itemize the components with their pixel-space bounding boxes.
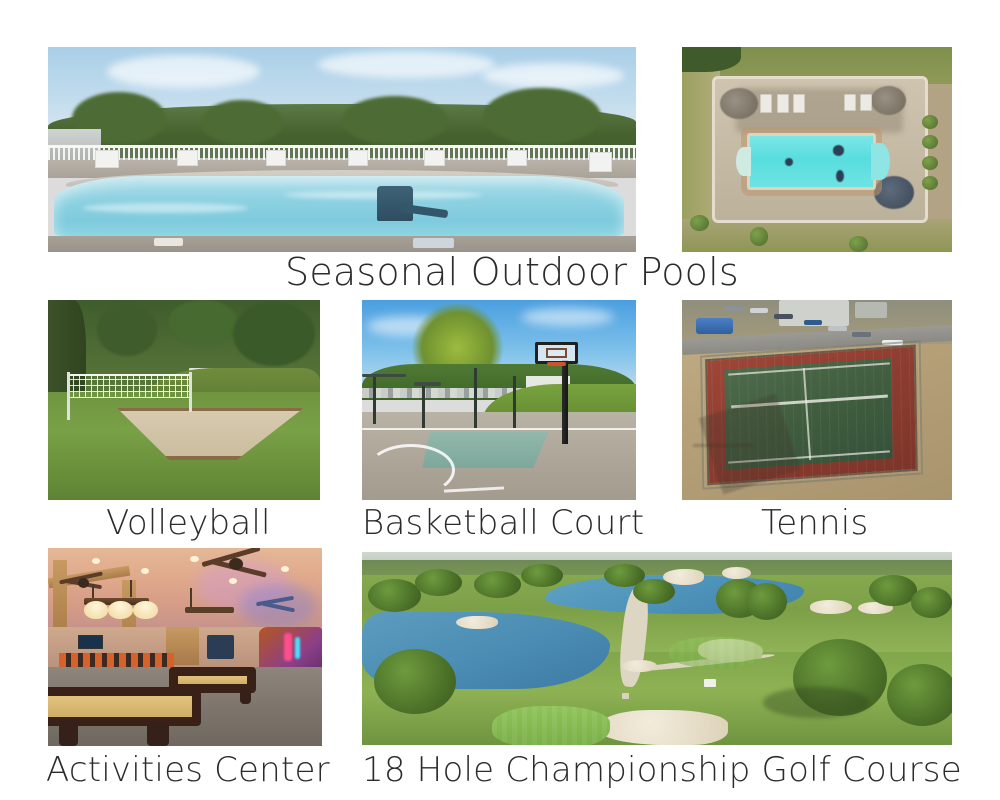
pool-table-leg xyxy=(59,720,78,746)
swimmer xyxy=(785,158,793,166)
light-pole xyxy=(422,384,425,428)
amenities-collage: Seasonal Outdoor Pools Volleyball Basket… xyxy=(0,0,1000,800)
recessed-light xyxy=(281,566,289,572)
fence-post xyxy=(373,376,376,424)
swimmer xyxy=(833,145,844,155)
umbrella xyxy=(871,86,906,115)
caption-pools: Seasonal Outdoor Pools xyxy=(285,253,739,291)
car xyxy=(804,320,823,325)
pool-alcove xyxy=(871,143,890,180)
hoop-pole xyxy=(562,360,568,444)
backboard-box xyxy=(546,348,568,358)
tree xyxy=(911,587,952,618)
putting-green xyxy=(669,637,763,668)
volleyball-court-photo xyxy=(48,300,320,500)
golf-course-photo xyxy=(362,552,952,745)
court-line xyxy=(362,428,636,430)
tree xyxy=(168,300,239,344)
umbrella xyxy=(720,88,758,119)
cloud xyxy=(318,51,494,78)
tree xyxy=(869,575,916,606)
pendant-light xyxy=(133,601,158,619)
caption-activities: Activities Center xyxy=(46,753,330,787)
neon-light xyxy=(284,633,292,661)
shrub xyxy=(922,115,938,129)
shrub xyxy=(849,236,868,252)
net-post xyxy=(67,372,70,420)
volleyball-net xyxy=(67,374,192,398)
activities-center-photo xyxy=(48,548,322,746)
tree xyxy=(887,664,952,726)
pendant-light xyxy=(84,601,109,619)
car xyxy=(725,306,744,311)
sand-bunker xyxy=(810,600,851,614)
car xyxy=(774,314,793,319)
lounger xyxy=(777,94,789,112)
caption-tennis: Tennis xyxy=(761,506,868,540)
pendant-rod xyxy=(130,580,132,598)
shrub xyxy=(922,156,938,170)
neighbor-pool xyxy=(696,318,734,334)
light-pole xyxy=(474,368,477,428)
deck-object xyxy=(154,238,183,246)
net-post xyxy=(189,372,192,412)
television xyxy=(78,635,103,649)
lounge-chair xyxy=(266,150,287,166)
tree xyxy=(97,304,157,356)
light-fixture xyxy=(414,382,441,386)
pool-water xyxy=(747,133,877,190)
tree xyxy=(342,96,448,145)
car xyxy=(852,332,871,337)
shrub xyxy=(922,176,938,190)
caption-golf: 18 Hole Championship Golf Course xyxy=(362,753,962,787)
outdoor-swimming-pool-photo xyxy=(48,47,636,252)
lounge-chair xyxy=(177,150,198,166)
fence-rail xyxy=(362,374,406,377)
sand-bunker xyxy=(456,616,497,630)
pendant-bar xyxy=(185,607,234,613)
recessed-light xyxy=(229,578,237,584)
pool-steps xyxy=(736,147,751,176)
tree xyxy=(368,579,421,612)
caption-volleyball: Volleyball xyxy=(106,506,271,540)
sand-bunker xyxy=(622,660,657,672)
lounger xyxy=(860,94,872,110)
recessed-light xyxy=(190,556,198,562)
lounge-chair xyxy=(507,150,528,166)
building xyxy=(855,302,887,318)
tree xyxy=(633,579,674,604)
lounge-chair xyxy=(589,152,613,173)
caption-basketball: Basketball Court xyxy=(362,506,644,540)
tree xyxy=(233,302,315,366)
basketball-rim xyxy=(547,362,566,366)
cloud xyxy=(521,308,614,326)
pendant-light xyxy=(108,601,133,619)
car xyxy=(828,326,847,331)
fence-shadow xyxy=(693,444,752,447)
car xyxy=(750,308,769,313)
tennis-court-photo xyxy=(682,300,952,500)
water-highlight xyxy=(83,203,248,213)
recessed-light xyxy=(92,558,100,564)
lounge-chair xyxy=(95,150,119,168)
tree-shadow xyxy=(763,687,869,718)
shrub xyxy=(750,227,769,245)
umbrella xyxy=(874,176,915,209)
recessed-light xyxy=(141,568,149,574)
ceiling-fan-hub xyxy=(229,558,243,570)
fence-post xyxy=(513,376,516,428)
basketball-court-photo xyxy=(362,300,636,500)
pool-table-leg xyxy=(240,689,251,705)
golfer xyxy=(622,693,629,699)
cloud xyxy=(107,55,260,88)
lounge-chair xyxy=(348,150,369,166)
lounger xyxy=(844,94,856,110)
tree xyxy=(374,649,457,715)
ceiling-fan-hub xyxy=(78,578,89,588)
grass-region xyxy=(682,219,952,252)
doorway xyxy=(207,635,234,659)
three-point-arc xyxy=(367,444,455,496)
putting-green xyxy=(492,706,610,745)
golf-cart xyxy=(704,679,716,687)
neon-light xyxy=(295,637,300,659)
sand-bunker xyxy=(598,710,728,745)
lounger xyxy=(760,94,772,112)
tree xyxy=(483,88,601,145)
lounger xyxy=(793,94,805,112)
lounge-chair xyxy=(424,150,445,166)
cloud xyxy=(483,63,624,88)
pendant-rod xyxy=(190,588,192,608)
pool-table-leg xyxy=(147,722,169,746)
deck-object xyxy=(413,238,454,248)
aerial-pool-photo xyxy=(682,47,952,252)
shrub xyxy=(922,135,938,149)
tree xyxy=(521,564,562,587)
tree xyxy=(746,583,787,620)
